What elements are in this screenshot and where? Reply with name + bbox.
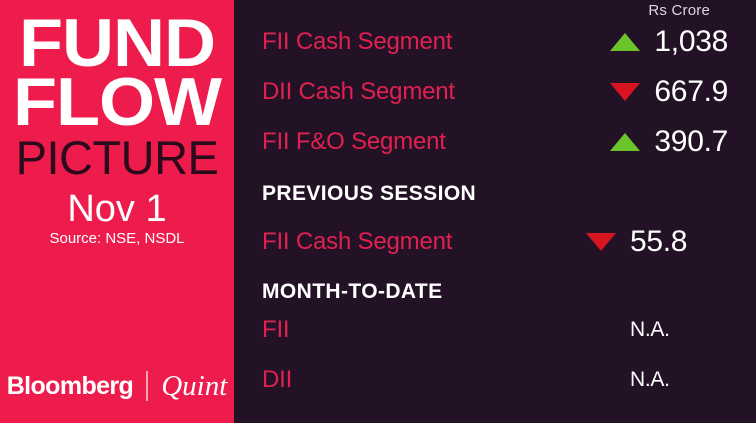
row-value-group: N.A. [586, 368, 728, 392]
row-value: 667.9 [654, 75, 728, 109]
row-value-group: 390.7 [586, 125, 728, 159]
row-label: DII [262, 366, 292, 394]
row-label: DII Cash Segment [262, 78, 455, 106]
triangle-down-icon [610, 83, 640, 101]
table-row: DII Cash Segment 667.9 [234, 72, 756, 112]
brand-panel: FUND FLOW PICTURE Nov 1 Source: NSE, NSD… [0, 0, 234, 423]
report-date: Nov 1 [0, 187, 234, 231]
logo-divider [146, 371, 148, 401]
row-label: FII [262, 316, 289, 344]
row-value: 55.8 [630, 225, 687, 259]
title-word-flow: FLOW [0, 73, 234, 132]
table-row: FII Cash Segment 1,038 [234, 22, 756, 62]
logo-bloomberg-text: Bloomberg [7, 372, 134, 400]
section-heading-month-to-date: MONTH-TO-DATE [262, 280, 443, 304]
unit-label: Rs Crore [648, 2, 710, 19]
table-row: FII F&O Segment 390.7 [234, 122, 756, 162]
fund-flow-picture-graphic: FUND FLOW PICTURE Nov 1 Source: NSE, NSD… [0, 0, 756, 423]
title-block: FUND FLOW PICTURE Nov 1 Source: NSE, NSD… [0, 8, 234, 248]
row-value: 1,038 [654, 25, 728, 59]
row-label: FII Cash Segment [262, 228, 452, 256]
logo-quint-text: Quint [161, 371, 227, 401]
no-direction-icon [586, 371, 616, 389]
triangle-up-icon [610, 133, 640, 151]
section-heading-previous-session: PREVIOUS SESSION [262, 182, 476, 206]
no-direction-icon [586, 321, 616, 339]
row-value: 390.7 [654, 125, 728, 159]
row-value-group: 55.8 [586, 225, 728, 259]
row-value: N.A. [630, 318, 670, 342]
table-row: FII N.A. [234, 310, 756, 350]
row-value-group: 667.9 [586, 75, 728, 109]
row-value-group: N.A. [586, 318, 728, 342]
source-attribution: Source: NSE, NSDL [0, 230, 234, 248]
row-value-group: 1,038 [586, 25, 728, 59]
triangle-down-icon [586, 233, 616, 251]
table-row: FII Cash Segment 55.8 [234, 222, 756, 262]
table-row: DII N.A. [234, 360, 756, 400]
row-label: FII Cash Segment [262, 28, 452, 56]
title-word-picture: PICTURE [0, 132, 234, 183]
triangle-up-icon [610, 33, 640, 51]
data-panel: Rs Crore FII Cash Segment 1,038 DII Cash… [234, 0, 756, 423]
row-value: N.A. [630, 368, 670, 392]
row-label: FII F&O Segment [262, 128, 446, 156]
bloomberg-quint-logo: Bloomberg Quint [0, 371, 234, 401]
